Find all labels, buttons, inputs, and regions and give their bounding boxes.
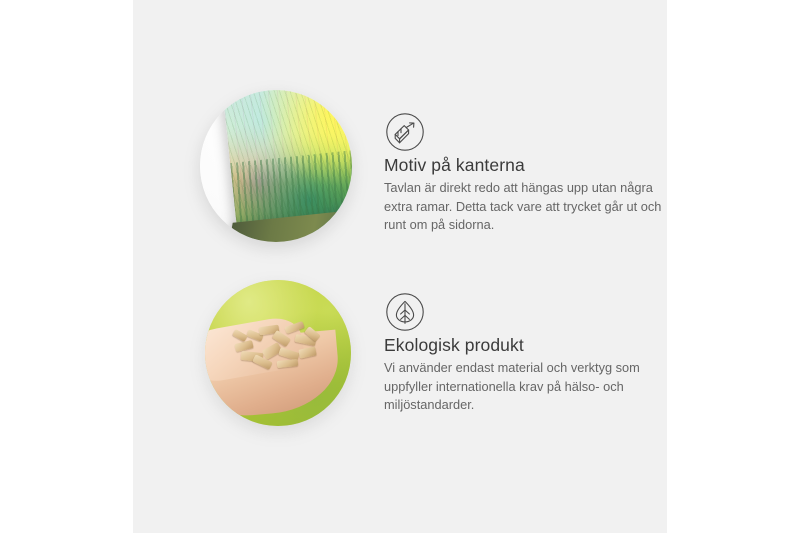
- leaf-icon: [385, 292, 425, 332]
- wood-chip-pile: [233, 324, 327, 370]
- content-panel: Motiv på kanterna Tavlan är direkt redo …: [133, 0, 667, 533]
- product-feature-infographic: Motiv på kanterna Tavlan är direkt redo …: [0, 0, 800, 533]
- hands-holding-wood-chips-photo: [205, 280, 351, 426]
- canvas-wrap-edge-icon: [385, 112, 425, 152]
- feature-title: Ekologisk produkt: [384, 335, 524, 356]
- feature-title: Motiv på kanterna: [384, 155, 525, 176]
- feature-block-eco-product: Ekologisk produkt Vi använder endast mat…: [133, 190, 667, 456]
- feature-description: Vi använder endast material och verktyg …: [384, 359, 652, 415]
